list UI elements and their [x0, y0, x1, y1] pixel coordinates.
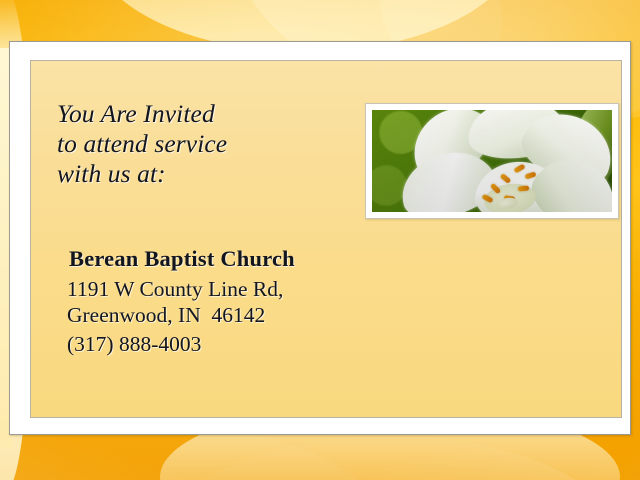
- address-line-city-state-zip: Greenwood, IN 46142: [67, 302, 283, 328]
- invitation-heading: You Are Invited to attend service with u…: [57, 99, 357, 189]
- invitation-heading-line-1: You Are Invited: [57, 99, 357, 129]
- address-line-street: 1191 W County Line Rd,: [67, 276, 283, 302]
- church-address: 1191 W County Line Rd, Greenwood, IN 461…: [67, 276, 283, 328]
- church-phone: (317) 888-4003: [67, 331, 201, 357]
- invitation-heading-line-2: to attend service: [57, 129, 357, 159]
- invitation-slide: You Are Invited to attend service with u…: [0, 0, 640, 480]
- content-panel: You Are Invited to attend service with u…: [30, 60, 622, 418]
- invitation-heading-line-3: with us at:: [57, 159, 357, 189]
- photo-frame: [365, 103, 619, 219]
- church-name: Berean Baptist Church: [69, 246, 295, 272]
- card-frame: You Are Invited to attend service with u…: [9, 41, 631, 435]
- lily-photo: [372, 110, 612, 212]
